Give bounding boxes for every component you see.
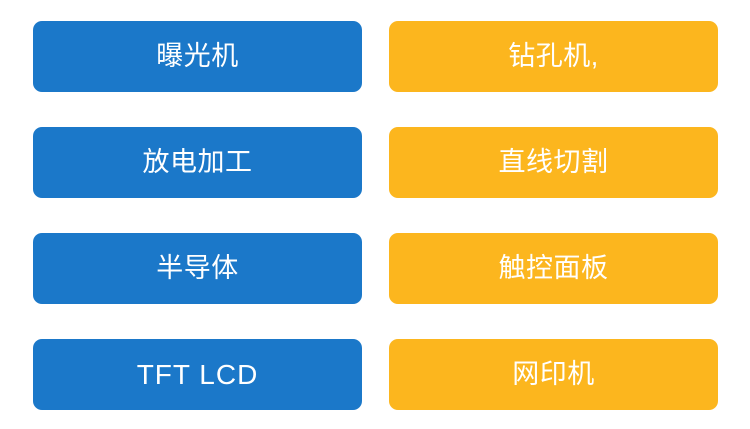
category-tile-straight-line-cutting[interactable]: 直线切割 [389,127,718,198]
category-tile-drilling-machine[interactable]: 钻孔机, [389,21,718,92]
category-tile-label: TFT LCD [137,361,259,389]
category-tile-label: 曝光机 [156,43,239,70]
category-tile-label: 放电加工 [143,149,253,176]
category-button-board: 曝光机 钻孔机, 放电加工 直线切割 半导体 触控面板 TFT LCD 网印机 [0,0,750,429]
category-tile-semiconductor[interactable]: 半导体 [33,233,362,304]
category-tile-label: 半导体 [156,255,239,282]
category-tile-edm-machining[interactable]: 放电加工 [33,127,362,198]
category-tile-label: 触控面板 [499,255,609,282]
category-tile-label: 网印机 [512,361,595,388]
category-tile-label: 直线切割 [499,149,609,176]
category-tile-label: 钻孔机, [508,43,599,70]
category-tile-grid: 曝光机 钻孔机, 放电加工 直线切割 半导体 触控面板 TFT LCD 网印机 [33,21,718,410]
category-tile-screen-printer[interactable]: 网印机 [389,339,718,410]
category-tile-tft-lcd[interactable]: TFT LCD [33,339,362,410]
category-tile-touch-panel[interactable]: 触控面板 [389,233,718,304]
category-tile-exposure-machine[interactable]: 曝光机 [33,21,362,92]
